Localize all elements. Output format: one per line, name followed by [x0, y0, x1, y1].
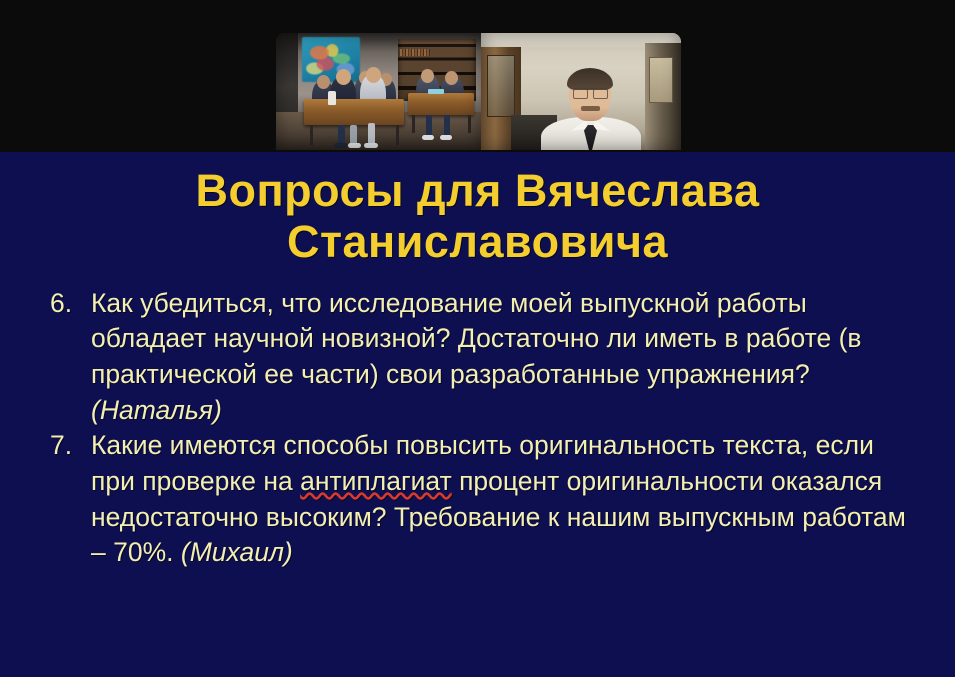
student-shoe [440, 135, 452, 140]
classroom-desk [408, 93, 474, 115]
question-number: 6. [50, 286, 91, 322]
student-shoe [348, 143, 361, 148]
student-head [366, 67, 381, 83]
student-head [445, 71, 458, 85]
cabinet-glass-pane [487, 55, 515, 117]
desk-leg [412, 115, 415, 133]
video-tile-grid [276, 33, 681, 150]
speaker-mustache [581, 106, 600, 111]
student-head [421, 69, 434, 83]
student-legs [426, 115, 432, 137]
student-head [317, 75, 330, 89]
speaker-glasses [573, 88, 608, 97]
question-text: Какие имеются способы повысить оригиналь… [91, 428, 921, 571]
slide-title: Вопросы для Вячеслава Станиславовича [0, 152, 955, 268]
question-item: 6. Как убедиться, что исследование моей … [0, 286, 955, 429]
question-number: 7. [50, 428, 91, 464]
student-legs [338, 125, 345, 145]
student-legs [350, 125, 357, 145]
student-shoe [364, 143, 378, 148]
desk-bottle [328, 91, 336, 105]
student-shoe [422, 135, 434, 140]
wall-map-poster [302, 37, 360, 82]
question-item: 7. Какие имеются способы повысить оригин… [0, 428, 955, 571]
question-attribution: (Наталья) [91, 395, 222, 425]
student-legs [368, 123, 375, 145]
presentation-screen: Вопросы для Вячеслава Станиславовича 6. … [0, 0, 955, 677]
misspelled-word: антиплагиат [300, 466, 452, 496]
student-head [336, 69, 351, 85]
video-tile-classroom-participants[interactable] [276, 33, 481, 150]
desk-notebook [428, 89, 444, 94]
student-shoe [334, 143, 347, 148]
question-attribution: (Михаил) [181, 537, 293, 567]
question-body: Как убедиться, что исследование моей вып… [91, 288, 862, 389]
wall-picture [649, 57, 673, 103]
video-conference-strip [0, 0, 955, 152]
desk-leg [310, 125, 313, 145]
questions-list: 6. Как убедиться, что исследование моей … [0, 286, 955, 571]
desk-leg [396, 125, 399, 145]
slide-content: Вопросы для Вячеслава Станиславовича 6. … [0, 152, 955, 677]
desk-leg [468, 115, 471, 133]
question-text: Как убедиться, что исследование моей вып… [91, 286, 921, 429]
video-tile-speaker-webcam[interactable] [481, 33, 681, 150]
classroom-desk [304, 99, 404, 125]
student-legs [444, 115, 450, 137]
